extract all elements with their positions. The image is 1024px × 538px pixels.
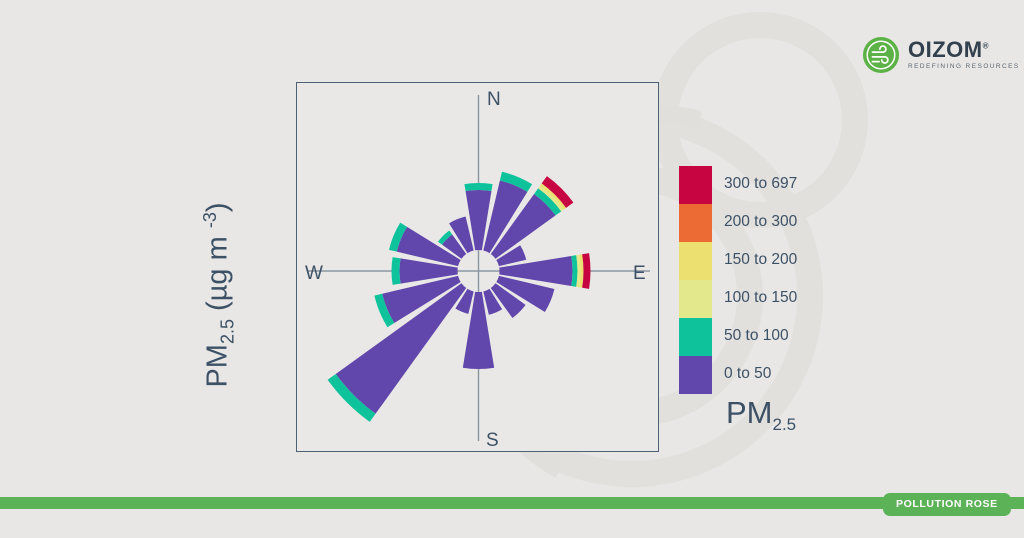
- pollution-rose-svg: N S E W: [297, 83, 660, 453]
- logo-tagline: REDEFINING RESOURCES: [908, 64, 1020, 70]
- legend-swatch-5: [679, 356, 712, 394]
- legend-swatch-4: [679, 318, 712, 356]
- legend-swatch-2: [679, 242, 712, 280]
- pollution-rose-badge: POLLUTION ROSE: [883, 493, 1011, 516]
- compass-label-w: W: [305, 263, 323, 284]
- legend-label-0: 300 to 697: [724, 175, 797, 193]
- legend-title-main: PM: [726, 395, 773, 430]
- legend-label-3: 100 to 150: [724, 289, 797, 307]
- footer-green-bar: [0, 497, 1024, 509]
- legend-swatch-1: [679, 204, 712, 242]
- petal-segment-N-1: [464, 183, 492, 191]
- legend-label-5: 0 to 50: [724, 365, 771, 383]
- rose-petal-group: [328, 172, 591, 422]
- y-axis-label: PM2.5 (µg m -3): [200, 180, 238, 410]
- legend-swatch-3: [679, 280, 712, 318]
- legend-colorbar: [679, 166, 712, 394]
- oizom-logo: OIZOM® REDEFINING RESOURCES: [862, 36, 1020, 74]
- legend-title-sub: 2.5: [773, 415, 797, 434]
- y-axis-unit-open: (µg m: [202, 228, 234, 319]
- y-axis-label-main: PM: [202, 344, 234, 388]
- compass-label-s: S: [486, 430, 499, 451]
- y-axis-unit-exponent: -3: [200, 212, 220, 228]
- compass-label-e: E: [633, 263, 646, 284]
- pollution-rose-plot: N S E W: [296, 82, 659, 452]
- logo-wordmark: OIZOM®: [908, 39, 1020, 61]
- legend-swatch-0: [679, 166, 712, 204]
- oizom-logo-icon: [862, 36, 900, 74]
- legend-label-4: 50 to 100: [724, 327, 789, 345]
- legend-label-1: 200 to 300: [724, 213, 797, 231]
- compass-label-n: N: [487, 89, 501, 110]
- petal-segment-W-1: [392, 257, 401, 285]
- logo-text-block: OIZOM® REDEFINING RESOURCES: [908, 39, 1020, 70]
- y-axis-unit-close: ): [202, 202, 234, 212]
- y-axis-label-sub: 2.5: [217, 319, 237, 344]
- legend-title: PM2.5: [726, 395, 796, 435]
- legend-label-2: 150 to 200: [724, 251, 797, 269]
- logo-registered-mark: ®: [983, 42, 989, 51]
- logo-word-text: OIZOM: [908, 37, 983, 62]
